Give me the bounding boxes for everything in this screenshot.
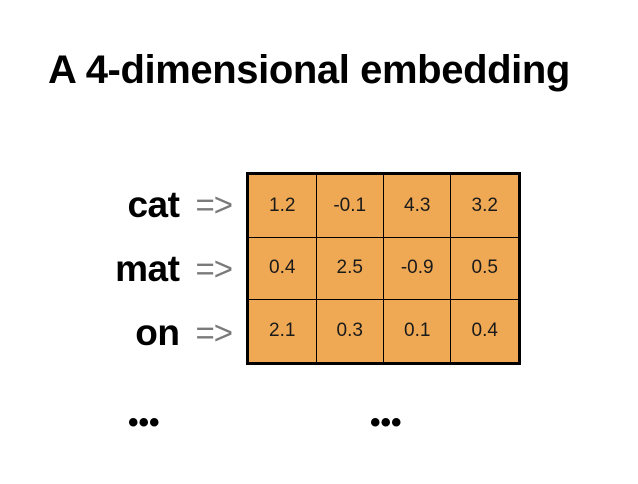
embedding-matrix: 1.2 -0.1 4.3 3.2 0.4 2.5 -0.9 0.5 2.1 0.… <box>246 172 521 365</box>
arrow-icon-on: => <box>195 316 232 349</box>
matrix-cell: 1.2 <box>249 175 316 237</box>
arrow-icon-mat: => <box>195 252 232 285</box>
matrix-cell: 0.3 <box>316 300 383 362</box>
ellipsis-right: ••• <box>370 408 402 438</box>
embedding-table: 1.2 -0.1 4.3 3.2 0.4 2.5 -0.9 0.5 2.1 0.… <box>249 175 518 362</box>
word-label-mat: mat <box>115 250 179 287</box>
matrix-cell: 0.4 <box>451 300 518 362</box>
word-label-cat: cat <box>127 186 179 223</box>
word-label-on: on <box>135 314 179 351</box>
matrix-cell: 2.1 <box>249 300 316 362</box>
table-row: 0.4 2.5 -0.9 0.5 <box>249 237 518 299</box>
table-row: 2.1 0.3 0.1 0.4 <box>249 300 518 362</box>
matrix-cell: 0.1 <box>383 300 450 362</box>
matrix-cell: 4.3 <box>383 175 450 237</box>
table-row: 1.2 -0.1 4.3 3.2 <box>249 175 518 237</box>
matrix-cell: -0.9 <box>383 237 450 299</box>
word-label-column: cat => mat => on => <box>0 172 232 365</box>
matrix-cell: -0.1 <box>316 175 383 237</box>
arrow-icon-cat: => <box>195 188 232 221</box>
word-row-on: on => <box>0 301 232 365</box>
matrix-cell: 0.4 <box>249 237 316 299</box>
matrix-cell: 3.2 <box>451 175 518 237</box>
page-title: A 4-dimensional embedding <box>48 47 608 93</box>
matrix-cell: 2.5 <box>316 237 383 299</box>
ellipsis-left: ••• <box>128 408 160 438</box>
word-row-mat: mat => <box>0 236 232 300</box>
slide-canvas: A 4-dimensional embedding cat => mat => … <box>0 0 638 484</box>
word-row-cat: cat => <box>0 172 232 236</box>
matrix-cell: 0.5 <box>451 237 518 299</box>
